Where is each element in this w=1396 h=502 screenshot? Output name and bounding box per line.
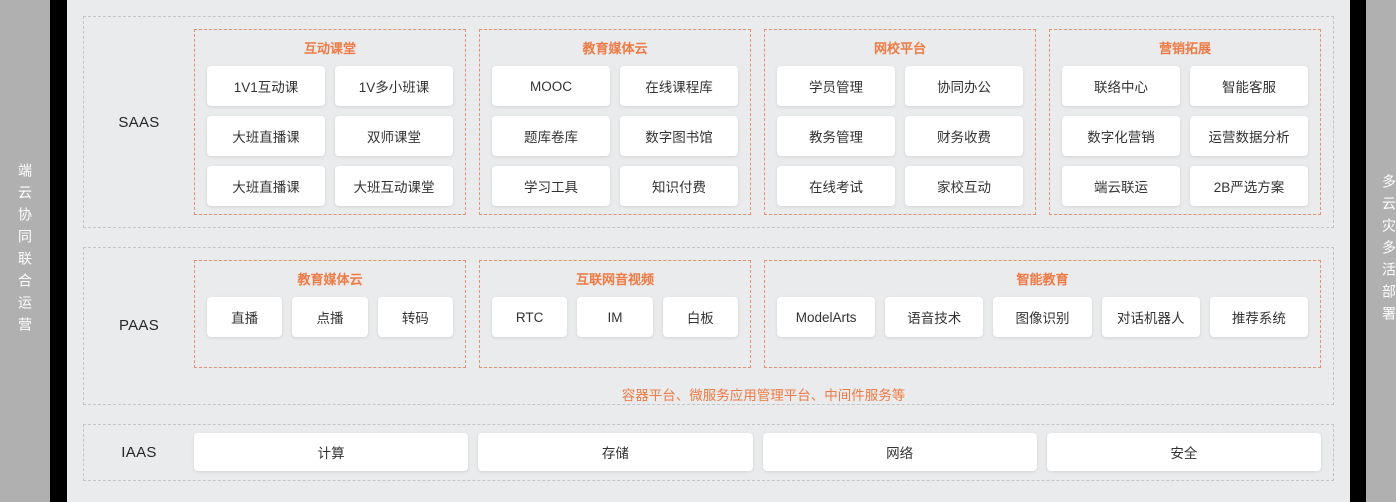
chip-item[interactable]: 学习工具 (492, 166, 610, 206)
chip-item[interactable]: 语音技术 (885, 297, 983, 337)
group-saas-online-school-platform: 网校平台 学员管理 协同办公 教务管理 财务收费 在线考试 家校互动 (764, 29, 1036, 215)
left-divider-bar (50, 0, 67, 502)
chip-item[interactable]: 运营数据分析 (1190, 116, 1308, 156)
group-paas-education-media-cloud: 教育媒体云 直播 点播 转码 (194, 260, 466, 368)
chip-item[interactable]: 双师课堂 (335, 116, 453, 156)
chip-item[interactable]: 直播 (207, 297, 282, 337)
group-title: 营销拓展 (1159, 38, 1211, 57)
group-title: 网校平台 (874, 38, 926, 57)
chip-item[interactable]: 家校互动 (905, 166, 1023, 206)
chip-item[interactable]: 转码 (378, 297, 453, 337)
chip-item[interactable]: 计算 (194, 433, 468, 471)
group-items: RTC IM 白板 (492, 297, 738, 337)
group-title: 教育媒体云 (297, 269, 362, 288)
group-items: 学员管理 协同办公 教务管理 财务收费 在线考试 家校互动 (777, 66, 1023, 206)
layer-paas-label: PAAS (84, 248, 194, 404)
chip-item[interactable]: 协同办公 (905, 66, 1023, 106)
chip-item[interactable]: 推荐系统 (1210, 297, 1308, 337)
group-paas-smart-education: 智能教育 ModelArts 语音技术 图像识别 对话机器人 推荐系统 (764, 260, 1321, 368)
layer-paas-body: 教育媒体云 直播 点播 转码 互联网音视频 RTC IM 白板 (194, 248, 1333, 404)
right-rail-label: 多云灾多活部署 (1382, 174, 1396, 328)
paas-groups-row: 教育媒体云 直播 点播 转码 互联网音视频 RTC IM 白板 (194, 248, 1333, 368)
left-rail: 端云协同联合运营 (0, 0, 50, 502)
group-title: 互联网音视频 (576, 269, 654, 288)
chip-item[interactable]: 点播 (292, 297, 367, 337)
group-saas-interactive-classroom: 互动课堂 1V1互动课 1V多小班课 大班直播课 双师课堂 大班直播课 大班互动… (194, 29, 466, 215)
chip-item[interactable]: 题库卷库 (492, 116, 610, 156)
chip-item[interactable]: 2B严选方案 (1190, 166, 1308, 206)
group-paas-internet-audio-video: 互联网音视频 RTC IM 白板 (479, 260, 751, 368)
chip-item[interactable]: 在线考试 (777, 166, 895, 206)
chip-item[interactable]: 存储 (478, 433, 752, 471)
layer-saas-label: SAAS (84, 17, 194, 227)
chip-item[interactable]: 教务管理 (777, 116, 895, 156)
chip-item[interactable]: 白板 (663, 297, 738, 337)
chip-item[interactable]: 安全 (1047, 433, 1321, 471)
chip-item[interactable]: ModelArts (777, 297, 875, 337)
chip-item[interactable]: RTC (492, 297, 567, 337)
chip-item[interactable]: 学员管理 (777, 66, 895, 106)
group-items: MOOC 在线课程库 题库卷库 数字图书馆 学习工具 知识付费 (492, 66, 738, 206)
architecture-diagram: 端云协同联合运营 SAAS 互动课堂 1V1互动课 1V多小班课 大班直播课 双… (0, 0, 1396, 502)
group-title: 教育媒体云 (582, 38, 647, 57)
chip-item[interactable]: 1V多小班课 (335, 66, 453, 106)
paas-footnote: 容器平台、微服务应用管理平台、中间件服务等 (194, 368, 1333, 404)
chip-item[interactable]: 联络中心 (1062, 66, 1180, 106)
chip-item[interactable]: 大班直播课 (207, 166, 325, 206)
chip-item[interactable]: 1V1互动课 (207, 66, 325, 106)
layer-paas: PAAS 教育媒体云 直播 点播 转码 互联网音视频 RT (83, 247, 1334, 405)
chip-item[interactable]: 大班直播课 (207, 116, 325, 156)
group-items: 直播 点播 转码 (207, 297, 453, 337)
group-saas-education-media-cloud: 教育媒体云 MOOC 在线课程库 题库卷库 数字图书馆 学习工具 知识付费 (479, 29, 751, 215)
group-title: 智能教育 (1016, 269, 1068, 288)
diagram-canvas: SAAS 互动课堂 1V1互动课 1V多小班课 大班直播课 双师课堂 大班直播课… (67, 0, 1350, 502)
group-items: 联络中心 智能客服 数字化营销 运营数据分析 端云联运 2B严选方案 (1062, 66, 1308, 206)
chip-item[interactable]: 智能客服 (1190, 66, 1308, 106)
chip-item[interactable]: 大班互动课堂 (335, 166, 453, 206)
chip-item[interactable]: 对话机器人 (1102, 297, 1200, 337)
layer-saas: SAAS 互动课堂 1V1互动课 1V多小班课 大班直播课 双师课堂 大班直播课… (83, 16, 1334, 228)
right-divider-bar (1350, 0, 1366, 502)
group-items: 1V1互动课 1V多小班课 大班直播课 双师课堂 大班直播课 大班互动课堂 (207, 66, 453, 206)
chip-item[interactable]: IM (577, 297, 652, 337)
group-title: 互动课堂 (304, 38, 356, 57)
chip-item[interactable]: MOOC (492, 66, 610, 106)
layer-iaas-label: IAAS (84, 425, 194, 480)
chip-item[interactable]: 数字化营销 (1062, 116, 1180, 156)
layer-saas-body: 互动课堂 1V1互动课 1V多小班课 大班直播课 双师课堂 大班直播课 大班互动… (194, 17, 1333, 227)
layer-iaas: IAAS 计算 存储 网络 安全 (83, 424, 1334, 481)
chip-item[interactable]: 数字图书馆 (620, 116, 738, 156)
right-rail: 多云灾多活部署 (1366, 0, 1396, 502)
chip-item[interactable]: 网络 (763, 433, 1037, 471)
chip-item[interactable]: 在线课程库 (620, 66, 738, 106)
group-saas-marketing-expansion: 营销拓展 联络中心 智能客服 数字化营销 运营数据分析 端云联运 2B严选方案 (1049, 29, 1321, 215)
group-items: ModelArts 语音技术 图像识别 对话机器人 推荐系统 (777, 297, 1308, 337)
left-rail-label: 端云协同联合运营 (18, 163, 32, 339)
chip-item[interactable]: 知识付费 (620, 166, 738, 206)
chip-item[interactable]: 财务收费 (905, 116, 1023, 156)
chip-item[interactable]: 图像识别 (993, 297, 1091, 337)
chip-item[interactable]: 端云联运 (1062, 166, 1180, 206)
layer-iaas-body: 计算 存储 网络 安全 (194, 425, 1333, 480)
